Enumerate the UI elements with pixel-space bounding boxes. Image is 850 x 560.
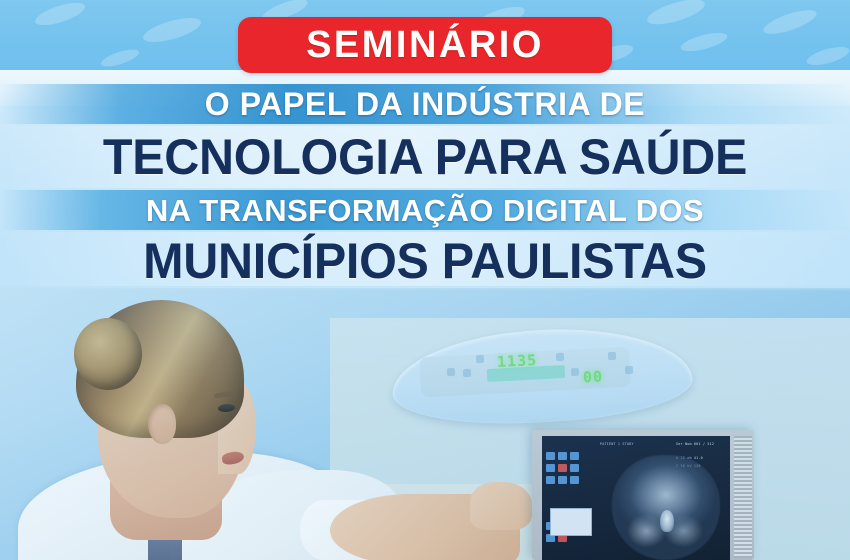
viewer-tool-cell [558,452,567,460]
scanner-tilt-icon [625,366,633,374]
hair-bun [74,318,142,390]
scanner-alert-icon [476,355,484,363]
scanner-patient-icon [463,369,471,377]
viewer-tool-cell [570,452,579,460]
viewer-tool-cell [546,452,555,460]
ct-scan-image [612,455,720,560]
monitor-header-left: PATIENT 1 STUDY [600,442,634,447]
scanner-status-icon [447,368,455,376]
headline-line-3: NA TRANSFORMAÇÃO DIGITAL DOS [0,195,850,226]
viewer-info-box [550,508,592,536]
viewer-alert-cell [558,464,567,472]
viewer-tool-cell [570,464,579,472]
hand [470,482,532,530]
viewer-tool-cell [546,476,555,484]
ear [148,404,176,444]
monitor-vent-grille [734,436,752,558]
scanner-table-icon [608,352,616,360]
scanner-beam-icon [571,368,579,376]
scanner-lock-icon [556,353,564,361]
headline-line-1: O PAPEL DA INDÚSTRIA DE [0,88,850,120]
ct-scan-spine [660,510,674,532]
seminar-poster: SEMINÁRIO O PAPEL DA INDÚSTRIA DE TECNOL… [0,0,850,560]
headline-line-2: TECNOLOGIA PARA SAÚDE [13,132,838,182]
monitor-header-right: Ser Num 001 / 512 [676,442,714,447]
viewer-tool-cell [546,464,555,472]
seminar-badge: SEMINÁRIO [238,17,612,73]
headline-line-4: MUNICÍPIOS PAULISTAS [13,236,838,286]
seminar-badge-label: SEMINÁRIO [306,26,544,64]
viewer-tool-cell [558,476,567,484]
scanner-led-value-top: 1135 [497,351,538,371]
viewer-tool-cell [570,476,579,484]
scanner-led-value-right: 00 [583,367,604,386]
